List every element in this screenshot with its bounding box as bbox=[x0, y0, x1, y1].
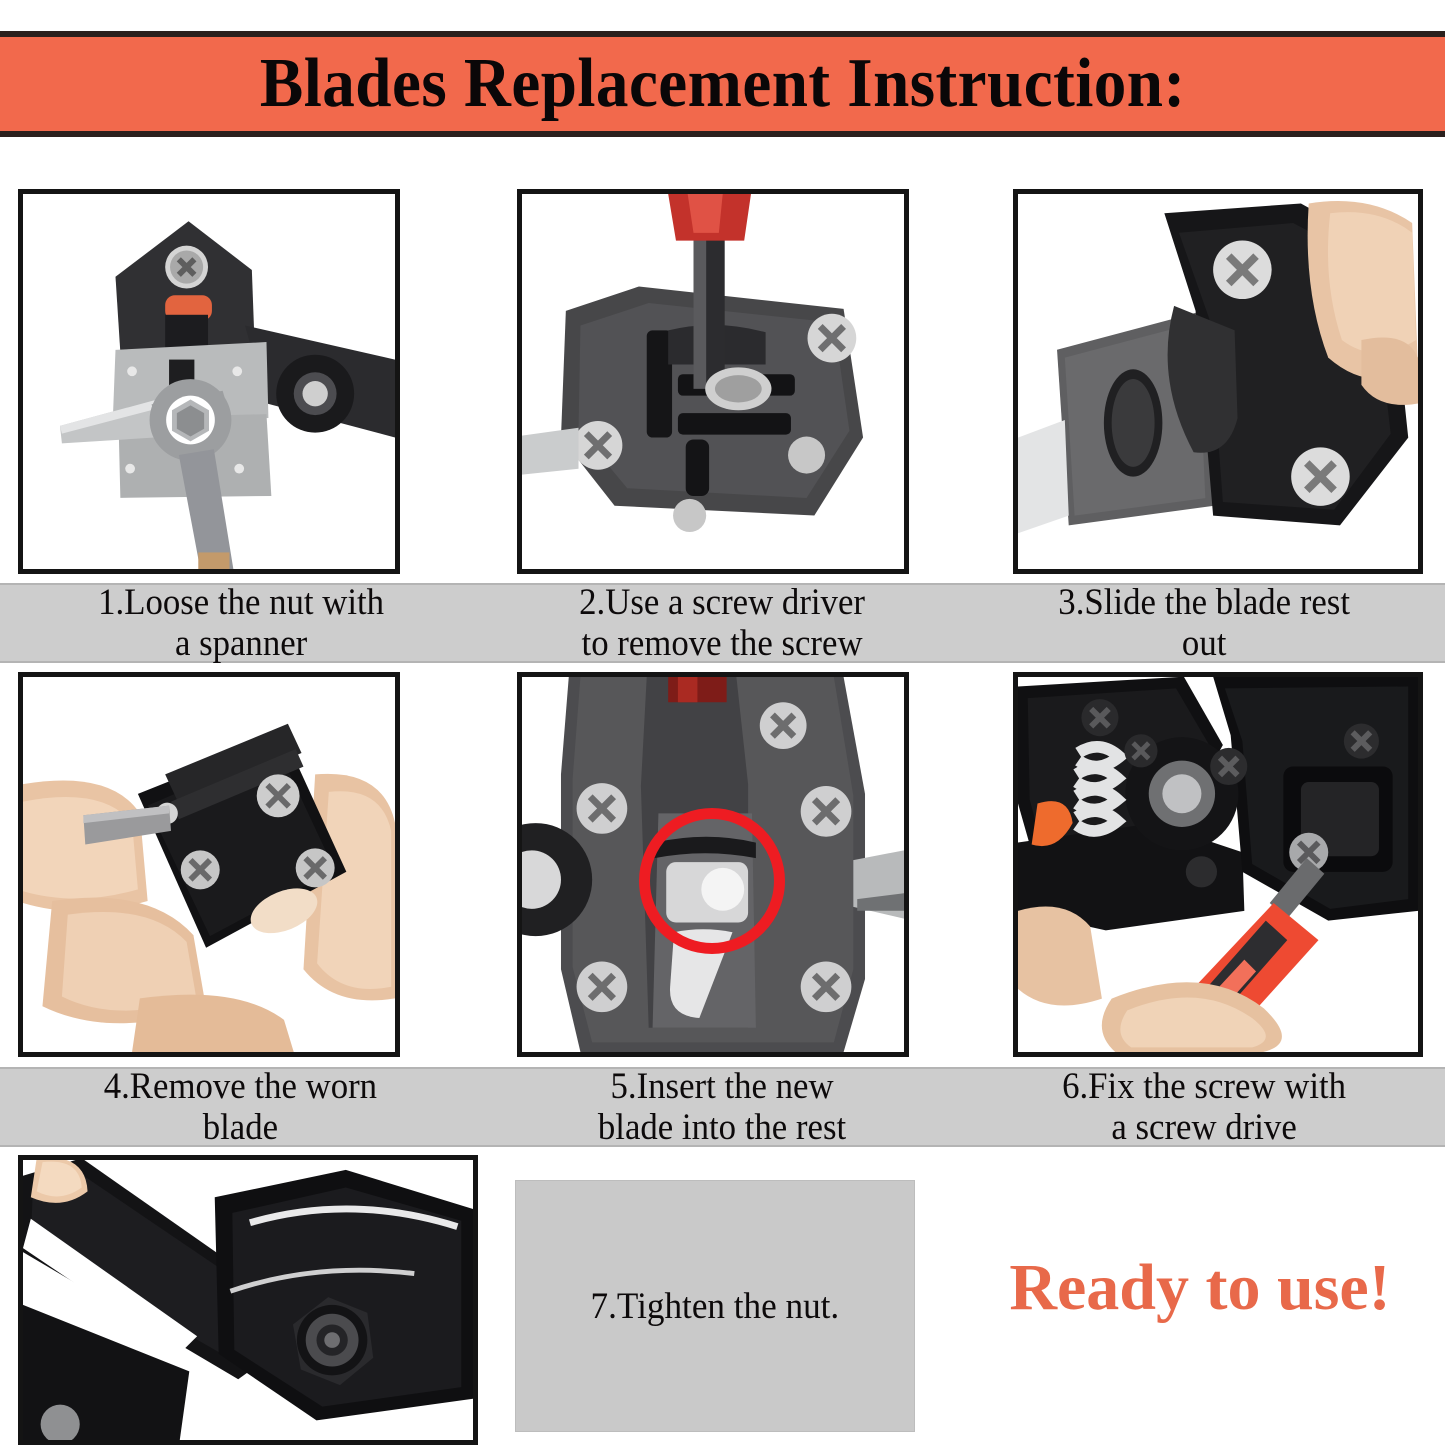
photo-step-7-tighten-nut bbox=[23, 1160, 473, 1440]
fix-screw-illustration bbox=[1018, 677, 1418, 1052]
header-banner: Blades Replacement Instruction: bbox=[0, 31, 1445, 137]
caption-band-row-2: 4.Remove the worn blade 5.Insert the new… bbox=[0, 1067, 1445, 1147]
caption-step-3: 3.Slide the blade rest out bbox=[963, 585, 1445, 661]
tighten-nut-illustration bbox=[23, 1160, 473, 1440]
red-circle-highlight-icon bbox=[639, 808, 785, 954]
page-title: Blades Replacement Instruction: bbox=[260, 49, 1186, 119]
photo-panel-step-5 bbox=[517, 672, 909, 1057]
caption-band-row-1: 1.Loose the nut with a spanner 2.Use a s… bbox=[0, 583, 1445, 663]
caption-step-1-line-2: a spanner bbox=[98, 623, 384, 664]
photo-step-6-fix-screw-with-screwdriver bbox=[1018, 677, 1418, 1052]
caption-step-4-line-1: 4.Remove the worn bbox=[104, 1066, 377, 1107]
caption-step-2-line-2: to remove the screw bbox=[580, 623, 866, 664]
caption-step-3-line-1: 3.Slide the blade rest bbox=[1058, 582, 1350, 623]
photo-step-4-remove-worn-blade bbox=[23, 677, 395, 1052]
caption-step-6-line-2: a screw drive bbox=[1062, 1107, 1346, 1148]
photo-panel-step-2 bbox=[517, 189, 909, 574]
photo-panel-step-4 bbox=[18, 672, 400, 1057]
photo-step-5-insert-new-blade bbox=[522, 677, 904, 1052]
caption-step-2: 2.Use a screw driver to remove the screw bbox=[482, 585, 964, 661]
photo-panel-step-3 bbox=[1013, 189, 1423, 574]
ready-to-use-label: Ready to use! bbox=[955, 1255, 1445, 1321]
caption-step-7: 7.Tighten the nut. bbox=[591, 1285, 840, 1328]
caption-step-5: 5.Insert the new blade into the rest bbox=[482, 1069, 964, 1145]
caption-step-1: 1.Loose the nut with a spanner bbox=[0, 585, 482, 661]
caption-step-5-line-2: blade into the rest bbox=[598, 1107, 846, 1148]
caption-step-4: 4.Remove the worn blade bbox=[0, 1069, 482, 1145]
caption-step-3-line-2: out bbox=[1058, 623, 1350, 664]
caption-step-1-line-1: 1.Loose the nut with bbox=[98, 582, 384, 623]
caption-step-5-line-1: 5.Insert the new bbox=[598, 1066, 846, 1107]
caption-step-7-box: 7.Tighten the nut. bbox=[515, 1180, 915, 1432]
photo-step-2-remove-screw-with-screwdriver bbox=[522, 194, 904, 569]
caption-step-6-line-1: 6.Fix the screw with bbox=[1062, 1066, 1346, 1107]
photo-step-3-slide-blade-rest-out bbox=[1018, 194, 1418, 569]
photo-step-1-loosen-nut-with-spanner bbox=[23, 194, 395, 569]
screwdriver-remove-screw-illustration bbox=[522, 194, 904, 569]
shear-spanner-illustration bbox=[23, 194, 395, 569]
slide-blade-rest-illustration bbox=[1018, 194, 1418, 569]
photo-panel-step-6 bbox=[1013, 672, 1423, 1057]
hand-holding-blade-rest-illustration bbox=[23, 677, 395, 1052]
caption-step-2-line-1: 2.Use a screw driver bbox=[580, 582, 866, 623]
photo-panel-step-1 bbox=[18, 189, 400, 574]
caption-step-4-line-2: blade bbox=[104, 1107, 377, 1148]
caption-step-6: 6.Fix the screw with a screw drive bbox=[963, 1069, 1445, 1145]
photo-panel-step-7 bbox=[18, 1155, 478, 1445]
instruction-graphic: Blades Replacement Instruction: bbox=[0, 0, 1445, 1445]
